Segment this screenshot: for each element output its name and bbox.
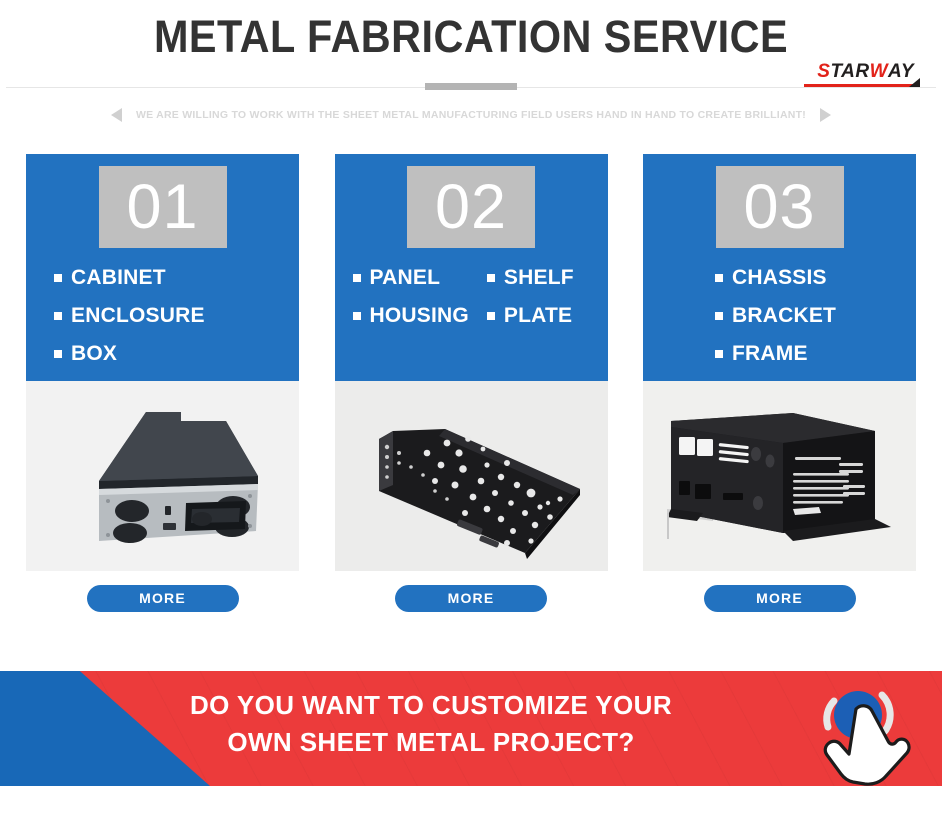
logo-underline <box>804 84 918 87</box>
card-1-footer: MORE <box>26 571 299 625</box>
card-2-column-2: SHELF PLATE <box>487 259 574 335</box>
page-header: METAL FABRICATION SERVICE STARWAY WE ARE… <box>0 0 942 132</box>
black-metal-chassis-image <box>643 381 916 571</box>
card-2-list: PANEL HOUSING SHELF PLATE <box>335 259 608 335</box>
square-bullet-icon <box>353 274 361 282</box>
list-item-label: FRAME <box>732 342 808 366</box>
more-button-2[interactable]: MORE <box>395 585 547 612</box>
square-bullet-icon <box>487 312 495 320</box>
square-bullet-icon <box>715 312 723 320</box>
list-item-label: BOX <box>71 342 117 366</box>
list-item-label: PLATE <box>504 304 572 328</box>
tagline-text: WE ARE WILLING TO WORK WITH THE SHEET ME… <box>136 109 806 121</box>
square-bullet-icon <box>54 312 62 320</box>
perforated-sheet-metal-panel-image <box>335 381 608 571</box>
list-item-label: PANEL <box>370 266 441 290</box>
hand-pointer-click-icon[interactable] <box>810 675 920 800</box>
logo-letter-s: S <box>817 62 830 81</box>
service-card-1: 01 CABINET ENCLOSURE BOX <box>26 154 299 625</box>
list-item: BOX <box>54 335 205 373</box>
service-cards: 01 CABINET ENCLOSURE BOX <box>0 154 942 625</box>
card-2-number-box: 02 <box>407 166 535 248</box>
tagline-marquee: WE ARE WILLING TO WORK WITH THE SHEET ME… <box>0 102 942 128</box>
list-item: PANEL <box>353 259 469 297</box>
list-item: CHASSIS <box>715 259 836 297</box>
more-button-1[interactable]: MORE <box>87 585 239 612</box>
cta-line-1: DO YOU WANT TO CUSTOMIZE YOUR <box>0 687 862 724</box>
card-3-header: 03 CHASSIS BRACKET FRAME <box>643 154 916 381</box>
square-bullet-icon <box>353 312 361 320</box>
list-item-label: BRACKET <box>732 304 836 328</box>
cta-line-2: OWN SHEET METAL PROJECT? <box>0 724 862 761</box>
card-1-photo <box>26 381 299 571</box>
card-1-list: CABINET ENCLOSURE BOX <box>26 259 299 373</box>
list-item-label: HOUSING <box>370 304 469 328</box>
card-2-header: 02 PANEL HOUSING SHELF <box>335 154 608 381</box>
square-bullet-icon <box>715 274 723 282</box>
list-item: PLATE <box>487 297 574 335</box>
card-1-number: 01 <box>126 176 198 239</box>
logo-letter-w: W <box>870 62 888 81</box>
card-3-number: 03 <box>743 176 815 239</box>
service-card-2: 02 PANEL HOUSING SHELF <box>335 154 608 625</box>
list-item-label: CHASSIS <box>732 266 827 290</box>
card-2-photo <box>335 381 608 571</box>
starway-logo: STARWAY <box>817 62 914 81</box>
card-2-column-1: PANEL HOUSING <box>353 259 469 335</box>
card-3-footer: MORE <box>643 571 916 625</box>
list-item: SHELF <box>487 259 574 297</box>
cta-banner-text: DO YOU WANT TO CUSTOMIZE YOUR OWN SHEET … <box>0 687 942 761</box>
card-3-list: CHASSIS BRACKET FRAME <box>643 259 916 373</box>
list-item-label: SHELF <box>504 266 574 290</box>
list-item: HOUSING <box>353 297 469 335</box>
card-1-column-1: CABINET ENCLOSURE BOX <box>54 259 205 373</box>
list-item: FRAME <box>715 335 836 373</box>
card-2-footer: MORE <box>335 571 608 625</box>
square-bullet-icon <box>54 274 62 282</box>
metal-enclosure-box-image <box>26 381 299 571</box>
page-title: METAL FABRICATION SERVICE <box>38 0 905 68</box>
square-bullet-icon <box>715 350 723 358</box>
square-bullet-icon <box>487 274 495 282</box>
card-3-column-1: CHASSIS BRACKET FRAME <box>715 259 836 373</box>
divider-knob <box>425 83 517 90</box>
logo-letters-tar: TAR <box>830 62 869 81</box>
card-2-number: 02 <box>435 176 507 239</box>
list-item: ENCLOSURE <box>54 297 205 335</box>
logo-tick-icon <box>909 78 920 87</box>
card-3-photo <box>643 381 916 571</box>
cta-banner[interactable]: DO YOU WANT TO CUSTOMIZE YOUR OWN SHEET … <box>0 671 942 823</box>
card-3-number-box: 03 <box>716 166 844 248</box>
card-1-header: 01 CABINET ENCLOSURE BOX <box>26 154 299 381</box>
list-item: BRACKET <box>715 297 836 335</box>
title-divider <box>0 76 942 100</box>
more-button-3[interactable]: MORE <box>704 585 856 612</box>
square-bullet-icon <box>54 350 62 358</box>
list-item: CABINET <box>54 259 205 297</box>
card-1-number-box: 01 <box>99 166 227 248</box>
list-item-label: ENCLOSURE <box>71 304 205 328</box>
triangle-left-icon[interactable] <box>111 108 122 122</box>
service-card-3: 03 CHASSIS BRACKET FRAME <box>643 154 916 625</box>
list-item-label: CABINET <box>71 266 166 290</box>
triangle-right-icon[interactable] <box>820 108 831 122</box>
